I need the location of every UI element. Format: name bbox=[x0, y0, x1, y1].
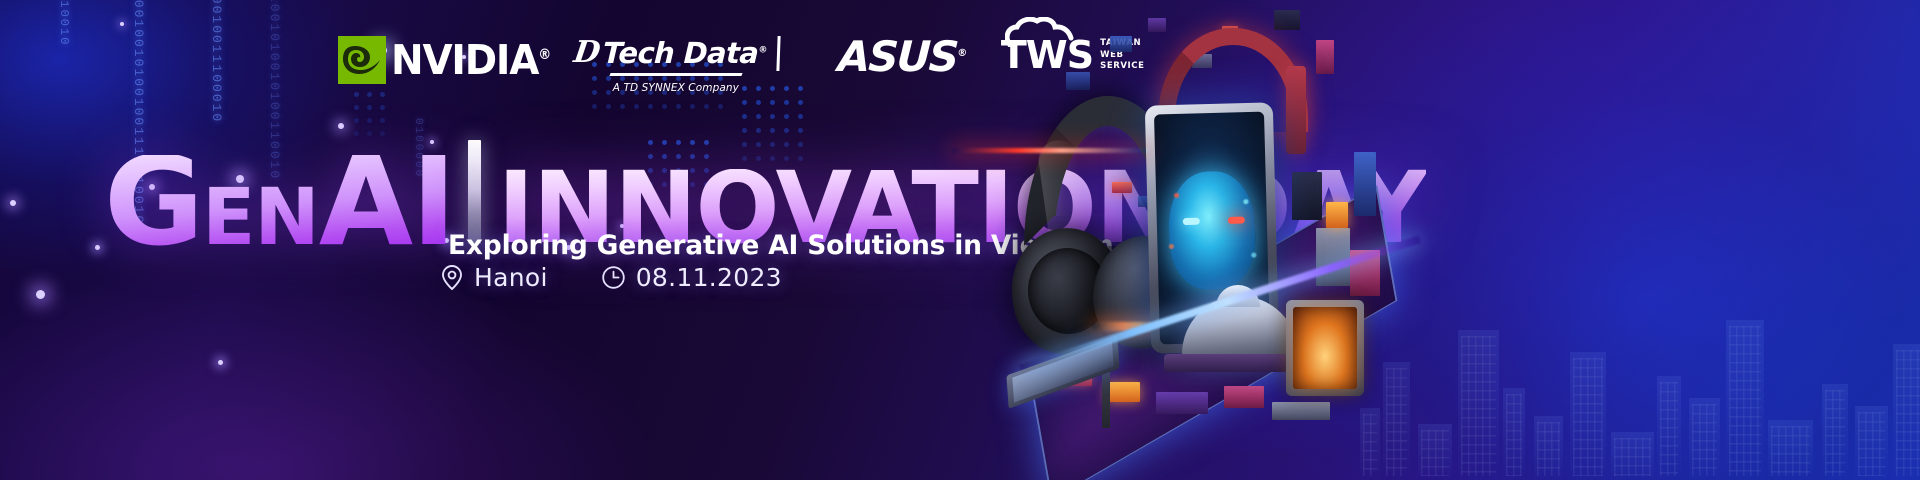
genai-ai: AI bbox=[319, 131, 455, 273]
halftone-dot bbox=[742, 114, 747, 119]
skyline-building bbox=[1689, 398, 1720, 480]
techdata-logo: D Tech Data® A TD SYNNEX Company bbox=[572, 36, 780, 94]
platform-block bbox=[1292, 172, 1322, 220]
genai-g: G bbox=[104, 131, 202, 273]
event-date: 08.11.2023 bbox=[601, 263, 782, 292]
techdata-wordmark: Tech Data® bbox=[603, 39, 768, 68]
ai-face-eye-right bbox=[1228, 216, 1245, 223]
skyline-building bbox=[1726, 320, 1764, 480]
glow-particle bbox=[120, 22, 124, 26]
halftone-dot bbox=[756, 128, 761, 133]
halftone-dot bbox=[380, 118, 385, 123]
halftone-dot bbox=[704, 104, 709, 109]
floating-block bbox=[1316, 40, 1334, 74]
floating-block bbox=[1066, 72, 1090, 90]
halftone-dot bbox=[690, 104, 695, 109]
skyline-building bbox=[1657, 376, 1681, 480]
glowing-panel-screen bbox=[1293, 307, 1357, 389]
platform-block bbox=[1316, 228, 1350, 286]
platform-block bbox=[1106, 382, 1140, 402]
location-pin-icon bbox=[440, 264, 464, 291]
glow-particle bbox=[338, 123, 344, 129]
halftone-dot bbox=[718, 104, 723, 109]
halftone-dot bbox=[770, 128, 775, 133]
binary-stream: 10010011100010 bbox=[210, 0, 223, 123]
red-light-streak bbox=[952, 148, 1148, 153]
platform-block bbox=[1354, 152, 1376, 216]
halftone-dot bbox=[662, 104, 667, 109]
halftone-dot bbox=[380, 105, 385, 110]
event-meta-row: Hanoi 08.11.2023 bbox=[440, 263, 782, 292]
halftone-dot bbox=[742, 128, 747, 133]
event-date-label: 08.11.2023 bbox=[636, 263, 782, 292]
halftone-dot bbox=[798, 100, 803, 105]
techdata-underline-rule bbox=[609, 73, 742, 76]
halftone-dot bbox=[798, 128, 803, 133]
halftone-dot bbox=[784, 114, 789, 119]
halftone-dot bbox=[648, 104, 653, 109]
halftone-dot bbox=[742, 100, 747, 105]
halftone-dot bbox=[784, 100, 789, 105]
halftone-dot bbox=[634, 104, 639, 109]
glowing-panel bbox=[1286, 300, 1364, 396]
halftone-dot bbox=[770, 100, 775, 105]
skyline-building bbox=[1855, 406, 1888, 480]
techdata-wordmark-group: D Tech Data® bbox=[571, 36, 780, 71]
platform-block bbox=[1156, 392, 1208, 414]
headline-divider-bar bbox=[468, 140, 481, 244]
genai-wordmark: GENAI bbox=[104, 155, 455, 250]
halftone-dot bbox=[770, 114, 775, 119]
event-location-label: Hanoi bbox=[474, 263, 548, 292]
skyline-building bbox=[1534, 416, 1563, 480]
halftone-dot bbox=[756, 100, 761, 105]
genai-en: EN bbox=[202, 173, 319, 263]
binary-stream: 0010010 bbox=[58, 0, 70, 46]
ai-face-graphic bbox=[1168, 170, 1257, 290]
halftone-dot bbox=[592, 104, 597, 109]
floating-block bbox=[1274, 10, 1300, 30]
halftone-dot bbox=[354, 118, 359, 123]
halftone-dot bbox=[367, 118, 372, 123]
asus-wordmark: ASUS® bbox=[837, 36, 968, 78]
nvidia-trademark: ® bbox=[538, 47, 550, 63]
platform-block bbox=[1326, 202, 1348, 228]
floating-block bbox=[1148, 18, 1166, 32]
genai-isometric-tech-illustration bbox=[986, 0, 1486, 480]
skyline-building bbox=[1570, 352, 1606, 480]
halftone-dot bbox=[606, 104, 611, 109]
skyline-building bbox=[1611, 432, 1654, 480]
nvidia-wordmark: NVIDIA® bbox=[391, 39, 550, 80]
skyline-building bbox=[1893, 344, 1920, 480]
nvidia-logo: NVIDIA® bbox=[338, 36, 550, 84]
halftone-dot bbox=[676, 104, 681, 109]
techdata-tagline: A TD SYNNEX Company bbox=[613, 82, 739, 94]
halftone-dot bbox=[620, 104, 625, 109]
clock-icon bbox=[601, 265, 626, 290]
halftone-dot bbox=[354, 105, 359, 110]
halftone-dot bbox=[756, 114, 761, 119]
floating-block bbox=[1110, 36, 1132, 52]
halftone-dot bbox=[798, 114, 803, 119]
glow-particle bbox=[95, 245, 100, 250]
glow-particle bbox=[10, 200, 16, 206]
techdata-trademark: ® bbox=[758, 45, 767, 55]
halftone-dot bbox=[784, 128, 789, 133]
asus-logo: ASUS® bbox=[838, 36, 967, 78]
ai-face-eye-left bbox=[1183, 218, 1200, 225]
asus-trademark: ® bbox=[957, 48, 968, 59]
glow-particle bbox=[36, 290, 45, 299]
skyline-building bbox=[1768, 420, 1813, 480]
event-location: Hanoi bbox=[440, 263, 548, 292]
nvidia-eye-icon bbox=[338, 36, 386, 84]
robot-arm-segment bbox=[1286, 66, 1306, 154]
skyline-building bbox=[1822, 384, 1848, 480]
skyline-building bbox=[1503, 388, 1525, 480]
glow-particle bbox=[218, 360, 223, 365]
halftone-dot bbox=[367, 105, 372, 110]
platform-block bbox=[1224, 386, 1264, 408]
genai-innovation-day-banner: 0010010 100100101001001110010010 1001001… bbox=[0, 0, 1920, 480]
platform-block bbox=[1272, 402, 1330, 420]
techdata-monogram: D bbox=[572, 38, 602, 68]
